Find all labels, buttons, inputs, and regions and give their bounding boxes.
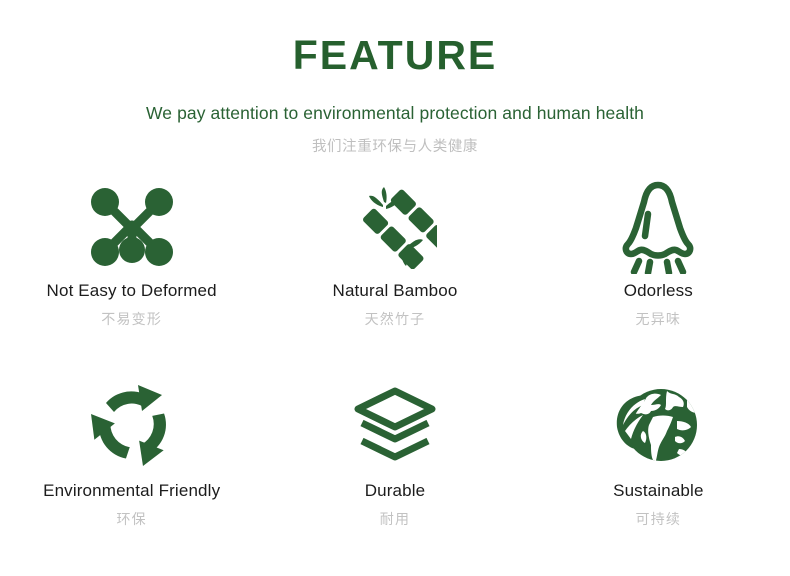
feature-grid: Not Easy to Deformed 不易变形 — [0, 179, 790, 571]
feature-label-english: Sustainable — [613, 482, 704, 501]
feature-item-environmental-friendly: Environmental Friendly 环保 — [0, 375, 263, 571]
molecule-lattice-icon — [89, 179, 175, 275]
subtitle-chinese: 我们注重环保与人类健康 — [0, 135, 790, 156]
feature-item-sustainable: Sustainable 可持续 — [527, 375, 790, 571]
nose-smell-icon — [618, 179, 698, 275]
feature-item-durable: Durable 耐用 — [263, 375, 526, 571]
feature-label-chinese: 不易变形 — [101, 312, 162, 327]
feature-label-chinese: 无异味 — [636, 312, 682, 327]
stacked-layers-icon — [352, 375, 438, 475]
subtitle-english: We pay attention to environmental protec… — [0, 103, 790, 124]
feature-label-english: Odorless — [624, 282, 693, 301]
feature-label-english: Natural Bamboo — [333, 282, 458, 301]
section-header: FEATURE We pay attention to environmenta… — [0, 34, 790, 156]
feature-label-english: Environmental Friendly — [43, 482, 220, 501]
feature-label-chinese: 耐用 — [380, 512, 410, 527]
page-title: FEATURE — [0, 34, 790, 77]
feature-label-english: Not Easy to Deformed — [47, 282, 217, 301]
feature-label-chinese: 天然竹子 — [365, 312, 426, 327]
feature-item-odorless: Odorless 无异味 — [527, 179, 790, 375]
feature-label-chinese: 可持续 — [636, 512, 682, 527]
recycle-arrows-icon — [86, 375, 178, 475]
feature-label-english: Durable — [365, 482, 426, 501]
bamboo-stalks-icon — [353, 179, 437, 275]
globe-leaf-icon — [613, 375, 703, 475]
feature-item-not-easy-to-deformed: Not Easy to Deformed 不易变形 — [0, 179, 263, 375]
feature-label-chinese: 环保 — [116, 512, 146, 527]
feature-item-natural-bamboo: Natural Bamboo 天然竹子 — [263, 179, 526, 375]
feature-section: FEATURE We pay attention to environmenta… — [0, 0, 790, 576]
